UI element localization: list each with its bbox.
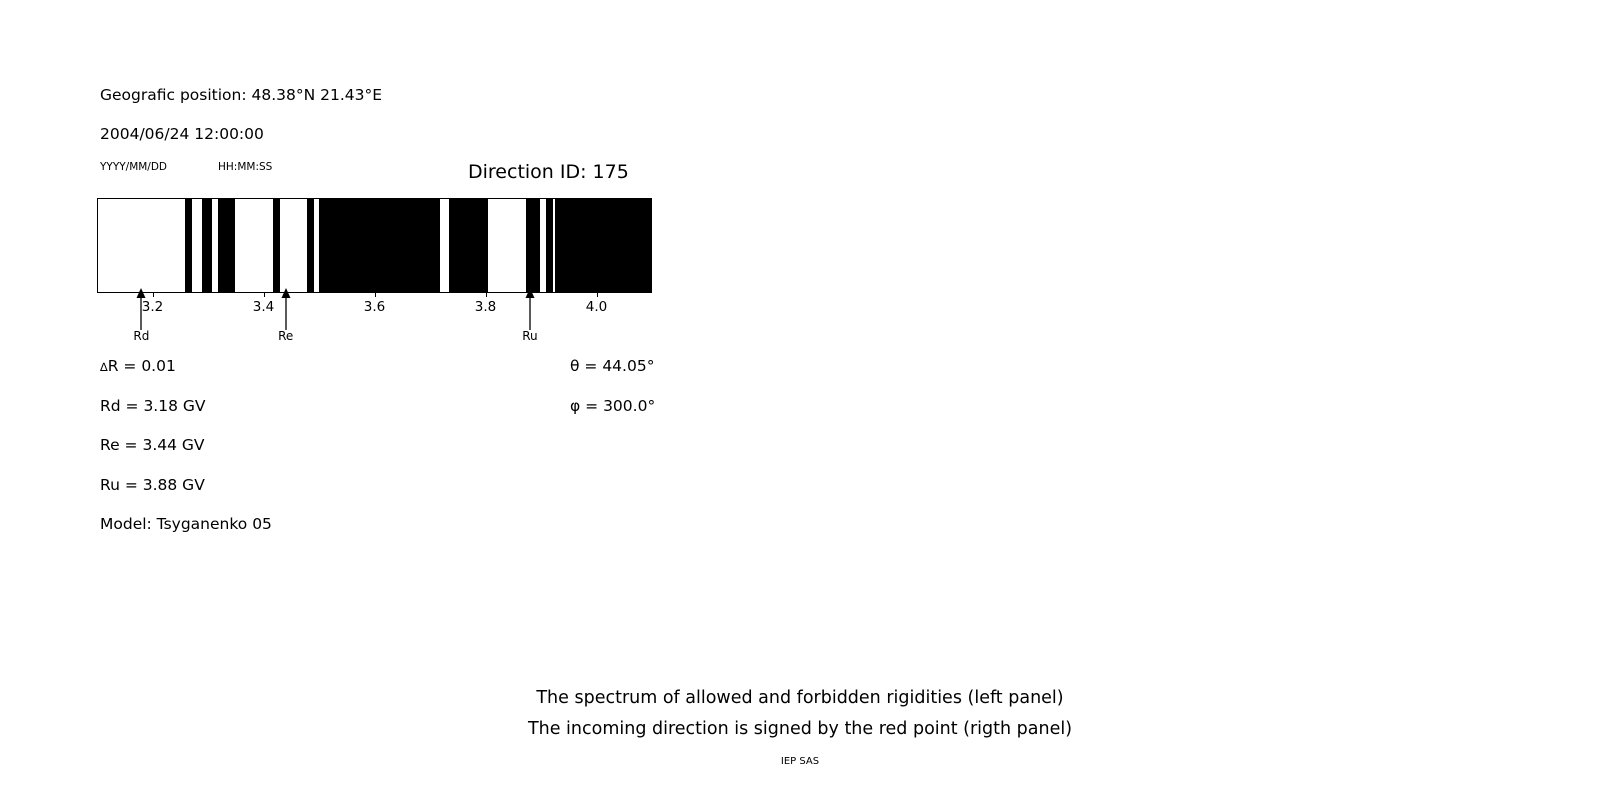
param-rd: Rd = 3.18 GV: [100, 397, 206, 415]
param-text: Ru = 3.88 GV: [100, 476, 205, 494]
forbidden-band: [185, 199, 192, 292]
rigidity-spectrum-bar: [97, 198, 652, 293]
param-text: Re = 3.44 GV: [100, 436, 205, 454]
spectrum-tick: [375, 292, 376, 297]
forbidden-band: [307, 199, 314, 292]
direction-id-label: Direction ID: 175: [468, 161, 629, 183]
forbidden-band: [449, 199, 488, 292]
caption-line-2: The incoming direction is signed by the …: [0, 719, 1600, 739]
caption-line-1: The spectrum of allowed and forbidden ri…: [0, 688, 1600, 708]
spectrum-tick-label: 3.8: [475, 299, 496, 315]
forbidden-band: [273, 199, 280, 292]
forbidden-band: [526, 199, 540, 292]
spectrum-tick: [264, 292, 265, 297]
marker-label-re: Re: [278, 329, 293, 343]
footer-credit: IEP SAS: [0, 756, 1600, 767]
marker-arrow-rd: [126, 288, 156, 334]
spectrum-tick: [597, 292, 598, 297]
marker-arrow-re: [271, 288, 301, 334]
param-model: Model: Tsyganenko 05: [100, 515, 272, 533]
rigidity-spectrum-bar-wrapper: [97, 198, 652, 293]
datetime-label: 2004/06/24 12:00:00: [100, 125, 264, 143]
marker-label-ru: Ru: [522, 329, 537, 343]
spectrum-tick-label: 3.6: [364, 299, 385, 315]
angle-theta: θ = 44.05°: [570, 357, 654, 375]
rigidity-spectrum-panel: Geografic position: 48.38°N 21.43°E 2004…: [0, 0, 760, 620]
geographic-position-label: Geografic position: 48.38°N 21.43°E: [100, 86, 382, 104]
forbidden-band: [202, 199, 212, 292]
param-text: Model: Tsyganenko 05: [100, 515, 272, 533]
spectrum-tick-label: 4.0: [586, 299, 607, 315]
param-prefix: ∆: [100, 360, 108, 374]
marker-label-rd: Rd: [133, 329, 149, 343]
param-text: Rd = 3.18 GV: [100, 397, 206, 415]
marker-arrow-ru: [515, 288, 545, 334]
forbidden-band: [546, 199, 553, 292]
param-ru: Ru = 3.88 GV: [100, 476, 205, 494]
param-re: Re = 3.44 GV: [100, 436, 205, 454]
forbidden-band: [218, 199, 235, 292]
date-format-hint: YYYY/MM/DD: [100, 161, 167, 173]
direction-map-panel: −1.00−1.00−0.75−0.75−0.50−0.50−0.25−0.25…: [800, 0, 1600, 680]
forbidden-band: [319, 199, 440, 292]
angle-phi: φ = 300.0°: [570, 397, 655, 415]
param-text: R = 0.01: [108, 357, 176, 375]
spectrum-tick: [486, 292, 487, 297]
forbidden-band: [555, 199, 652, 292]
param-delta-r: ∆R = 0.01: [100, 357, 176, 375]
time-format-hint: HH:MM:SS: [218, 161, 272, 173]
